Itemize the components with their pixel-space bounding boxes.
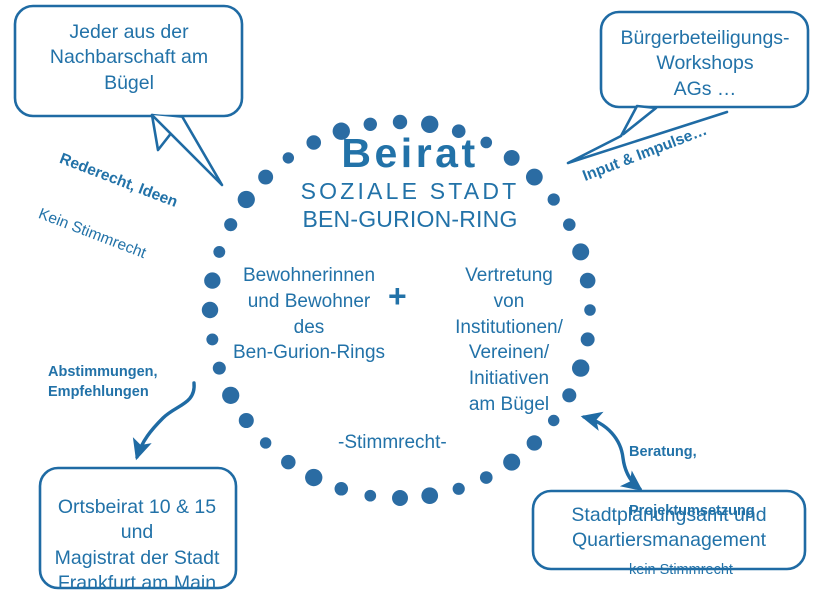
- plus-icon: +: [388, 277, 407, 316]
- ring-dot: [239, 413, 254, 428]
- ring-dot: [213, 246, 225, 258]
- ring-dot: [335, 482, 349, 496]
- ring-dot: [222, 387, 239, 404]
- ring-dot: [421, 487, 438, 504]
- bubble-top-left-label: Jeder aus der Nachbarschaft am Bügel: [18, 20, 240, 96]
- arrow-label-beratung-line2: Projektumsetzung: [629, 502, 755, 522]
- page-title: Beirat: [240, 128, 580, 178]
- member-group-institutions: Vertretung von Institutionen/ Vereinen/ …: [424, 263, 594, 418]
- ring-dot: [527, 435, 542, 450]
- ring-dot: [480, 471, 493, 484]
- ring-dot: [392, 490, 408, 506]
- box-bottom-left-label: Ortsbeirat 10 & 15 und Magistrat der Sta…: [42, 495, 232, 596]
- edge-label-rederecht-bold: Rederecht, Ideen: [57, 149, 181, 212]
- ring-dot: [260, 437, 271, 448]
- subtitle-program: SOZIALE STADT: [240, 177, 580, 205]
- ring-dot: [453, 483, 465, 495]
- ring-dot: [224, 218, 237, 231]
- arrow-label-beratung: Beratung, Projektumsetzung kein Stimmrec…: [629, 404, 755, 600]
- arrow-label-beratung-line1: Beratung,: [629, 443, 755, 463]
- ring-dot: [281, 455, 296, 470]
- arrow-label-abstimmungen: Abstimmungen, Empfehlungen: [48, 363, 158, 402]
- subtitle-location: BEN-GURION-RING: [240, 205, 580, 233]
- voting-rights-note: -Stimmrecht-: [338, 431, 447, 454]
- bubble-top-right-label: Bürgerbeteiligungs- Workshops AGs …: [604, 26, 806, 102]
- ring-dot: [364, 490, 376, 502]
- arrow-label-beratung-line3: kein Stimmrecht: [629, 561, 755, 581]
- ring-dot: [305, 469, 322, 486]
- ring-dot: [572, 243, 589, 260]
- ring-dot: [503, 454, 520, 471]
- member-group-residents: Bewohnerinnen und Bewohner des Ben-Gurio…: [214, 263, 404, 366]
- diagram-canvas: Beirat SOZIALE STADT BEN-GURION-RING Bew…: [0, 0, 820, 600]
- edge-label-rederecht-regular: Kein Stimmrecht: [35, 205, 159, 268]
